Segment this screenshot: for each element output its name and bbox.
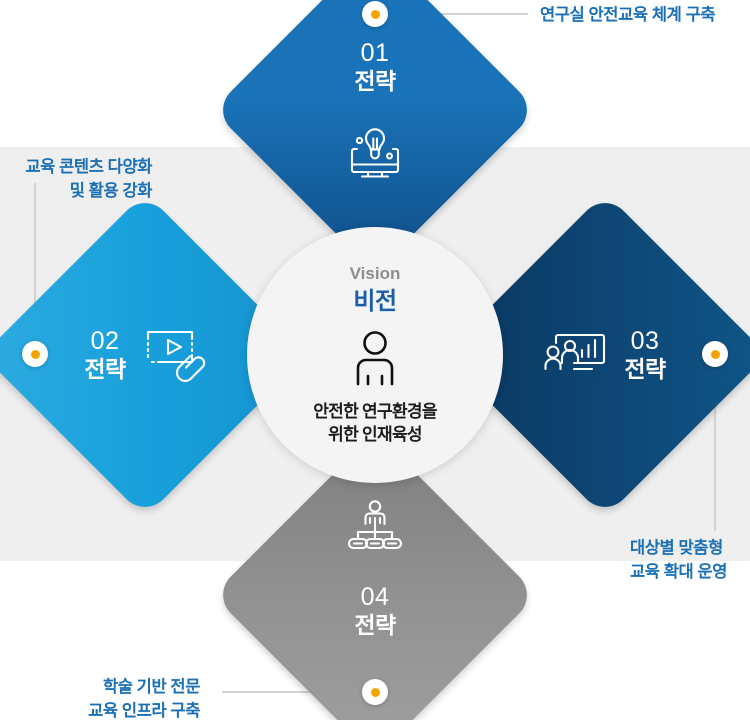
- connector-dot-bottom: [362, 679, 388, 705]
- connector-dot-right: [702, 341, 728, 367]
- vision-circle[interactable]: Vision 비전 안전한 연구환경을 위한 인재육성: [247, 227, 503, 483]
- strategy-card-02[interactable]: 02 전략: [30, 240, 260, 470]
- infographic-canvas: 연구실 안전교육 체계 구축 교육 콘텐츠 다양화 및 활용 강화 대상별 맞춤…: [0, 0, 750, 720]
- vision-en-label: Vision: [350, 265, 401, 284]
- connector-dot-top: [362, 1, 388, 27]
- connector-dot-left: [22, 341, 48, 367]
- vision-description: 안전한 연구환경을 위한 인재육성: [313, 401, 437, 446]
- strategy-card-04[interactable]: 04 전략: [260, 480, 490, 710]
- person-icon: [352, 330, 398, 391]
- callout-strategy-02: 교육 콘텐츠 다양화 및 활용 강화: [0, 156, 152, 204]
- vision-ko-label: 비전: [353, 288, 396, 317]
- strategy-card-03[interactable]: 03 전략: [490, 240, 720, 470]
- callout-strategy-04: 학술 기반 전문 교육 인프라 구축: [70, 676, 200, 720]
- callout-strategy-03: 대상별 맞춤형 교육 확대 운영: [630, 537, 750, 585]
- strategy-card-01[interactable]: 01 전략: [260, 0, 490, 225]
- callout-strategy-01: 연구실 안전교육 체계 구축: [540, 4, 715, 28]
